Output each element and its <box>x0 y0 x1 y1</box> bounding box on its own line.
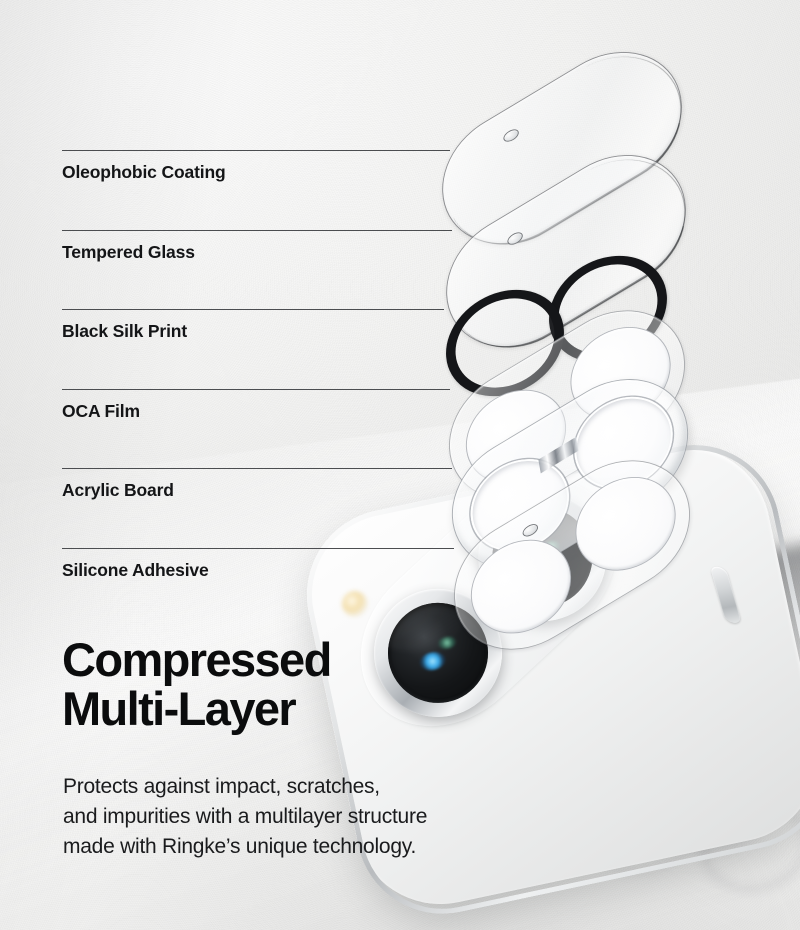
callout-label: Silicone Adhesive <box>62 560 209 581</box>
callout-label: OCA Film <box>62 401 140 422</box>
body-copy: Protects against impact, scratches, and … <box>63 772 427 861</box>
infographic-page: Oleophobic Coating Tempered Glass Black … <box>0 0 800 930</box>
callout-label: Acrylic Board <box>62 480 174 501</box>
callout-label: Tempered Glass <box>62 242 195 263</box>
leader-line <box>62 309 444 310</box>
callout-label: Oleophobic Coating <box>62 162 226 183</box>
leader-line <box>62 230 452 231</box>
headline: Compressed Multi-Layer <box>62 636 331 734</box>
leader-line <box>62 389 450 390</box>
callout-label: Black Silk Print <box>62 321 187 342</box>
leader-line <box>62 468 452 469</box>
leader-line <box>62 150 450 151</box>
leader-line <box>62 548 454 549</box>
